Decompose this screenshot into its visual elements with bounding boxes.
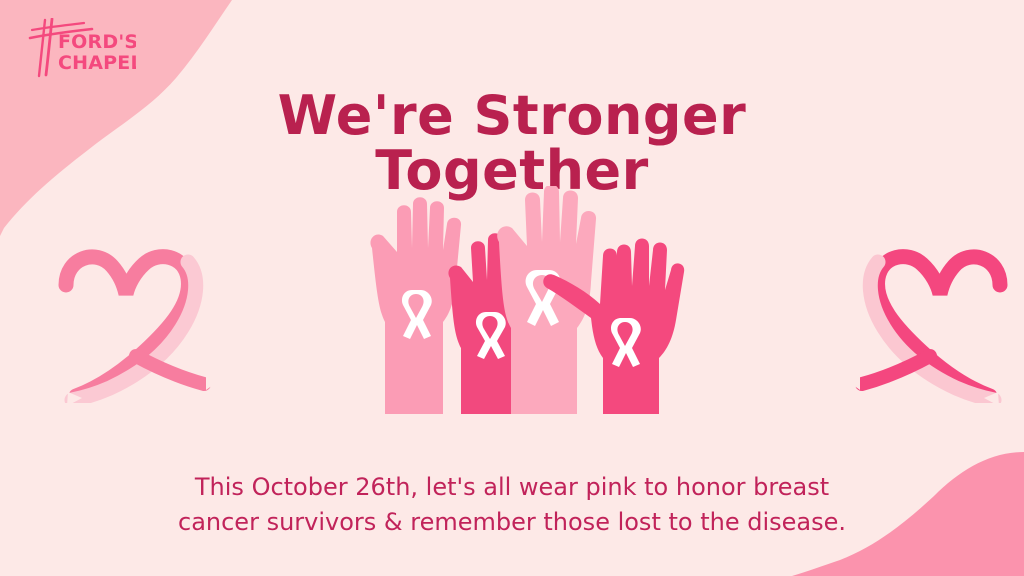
hand-1 — [370, 197, 461, 414]
subtitle-line-2: cancer survivors & remember those lost t… — [112, 505, 912, 540]
raised-hands-illustration — [355, 186, 685, 426]
logo-line1: FORD'S — [58, 31, 136, 53]
subtitle-line-1: This October 26th, let's all wear pink t… — [112, 470, 912, 505]
heart-ribbon-right — [828, 228, 1018, 403]
poster-canvas: FORD'S CHAPEL We're Stronger Together — [0, 0, 1024, 576]
ribbon-tail-notch-left — [206, 374, 220, 390]
headline-line-1: We're Stronger — [0, 88, 1024, 143]
ribbon-tail-notch-right — [846, 374, 860, 390]
brand-logo[interactable]: FORD'S CHAPEL — [16, 18, 136, 80]
heart-ribbon-left — [48, 228, 238, 403]
logo-line2: CHAPEL — [58, 52, 136, 74]
subtitle: This October 26th, let's all wear pink t… — [112, 470, 912, 540]
headline: We're Stronger Together — [0, 88, 1024, 198]
